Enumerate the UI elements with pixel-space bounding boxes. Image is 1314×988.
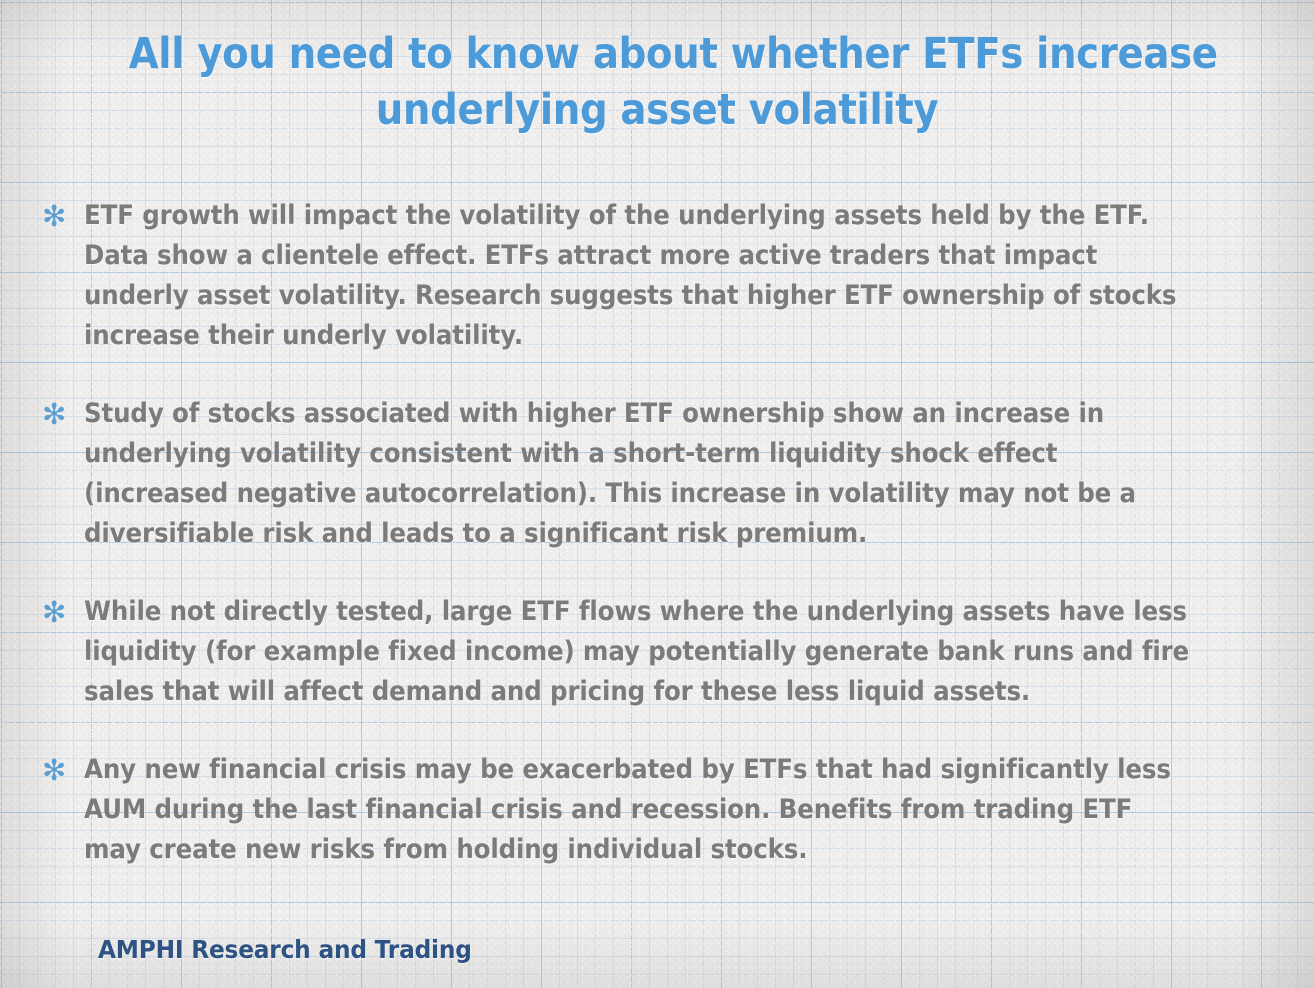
- bullet-item-3-text: While not directly tested, large ETF flo…: [84, 592, 1196, 712]
- asterisk-bullet-icon: ✻: [36, 750, 84, 790]
- slide-title: All you need to know about whether ETFs …: [129, 26, 1186, 138]
- bullet-item-3: ✻ While not directly tested, large ETF f…: [36, 592, 1286, 712]
- asterisk-bullet-icon: ✻: [36, 394, 84, 434]
- bullet-item-4: ✻ Any new financial crisis may be exacer…: [36, 750, 1286, 870]
- bullet-list: ✻ ETF growth will impact the volatility …: [36, 196, 1286, 870]
- bullet-item-2: ✻ Study of stocks associated with higher…: [36, 394, 1286, 554]
- slide-canvas: All you need to know about whether ETFs …: [0, 0, 1314, 988]
- slide-title-line-2: underlying asset volatility: [129, 82, 1186, 138]
- slide-content: All you need to know about whether ETFs …: [0, 0, 1314, 988]
- bullet-item-4-text: Any new financial crisis may be exacerba…: [84, 750, 1196, 870]
- bullet-item-1-text: ETF growth will impact the volatility of…: [84, 196, 1196, 356]
- asterisk-bullet-icon: ✻: [36, 592, 84, 632]
- asterisk-bullet-icon: ✻: [36, 196, 84, 236]
- bullet-item-2-text: Study of stocks associated with higher E…: [84, 394, 1196, 554]
- bullet-item-1: ✻ ETF growth will impact the volatility …: [36, 196, 1286, 356]
- slide-title-line-1: All you need to know about whether ETFs …: [129, 26, 1186, 82]
- footer-brand-label: AMPHI Research and Trading: [98, 934, 472, 966]
